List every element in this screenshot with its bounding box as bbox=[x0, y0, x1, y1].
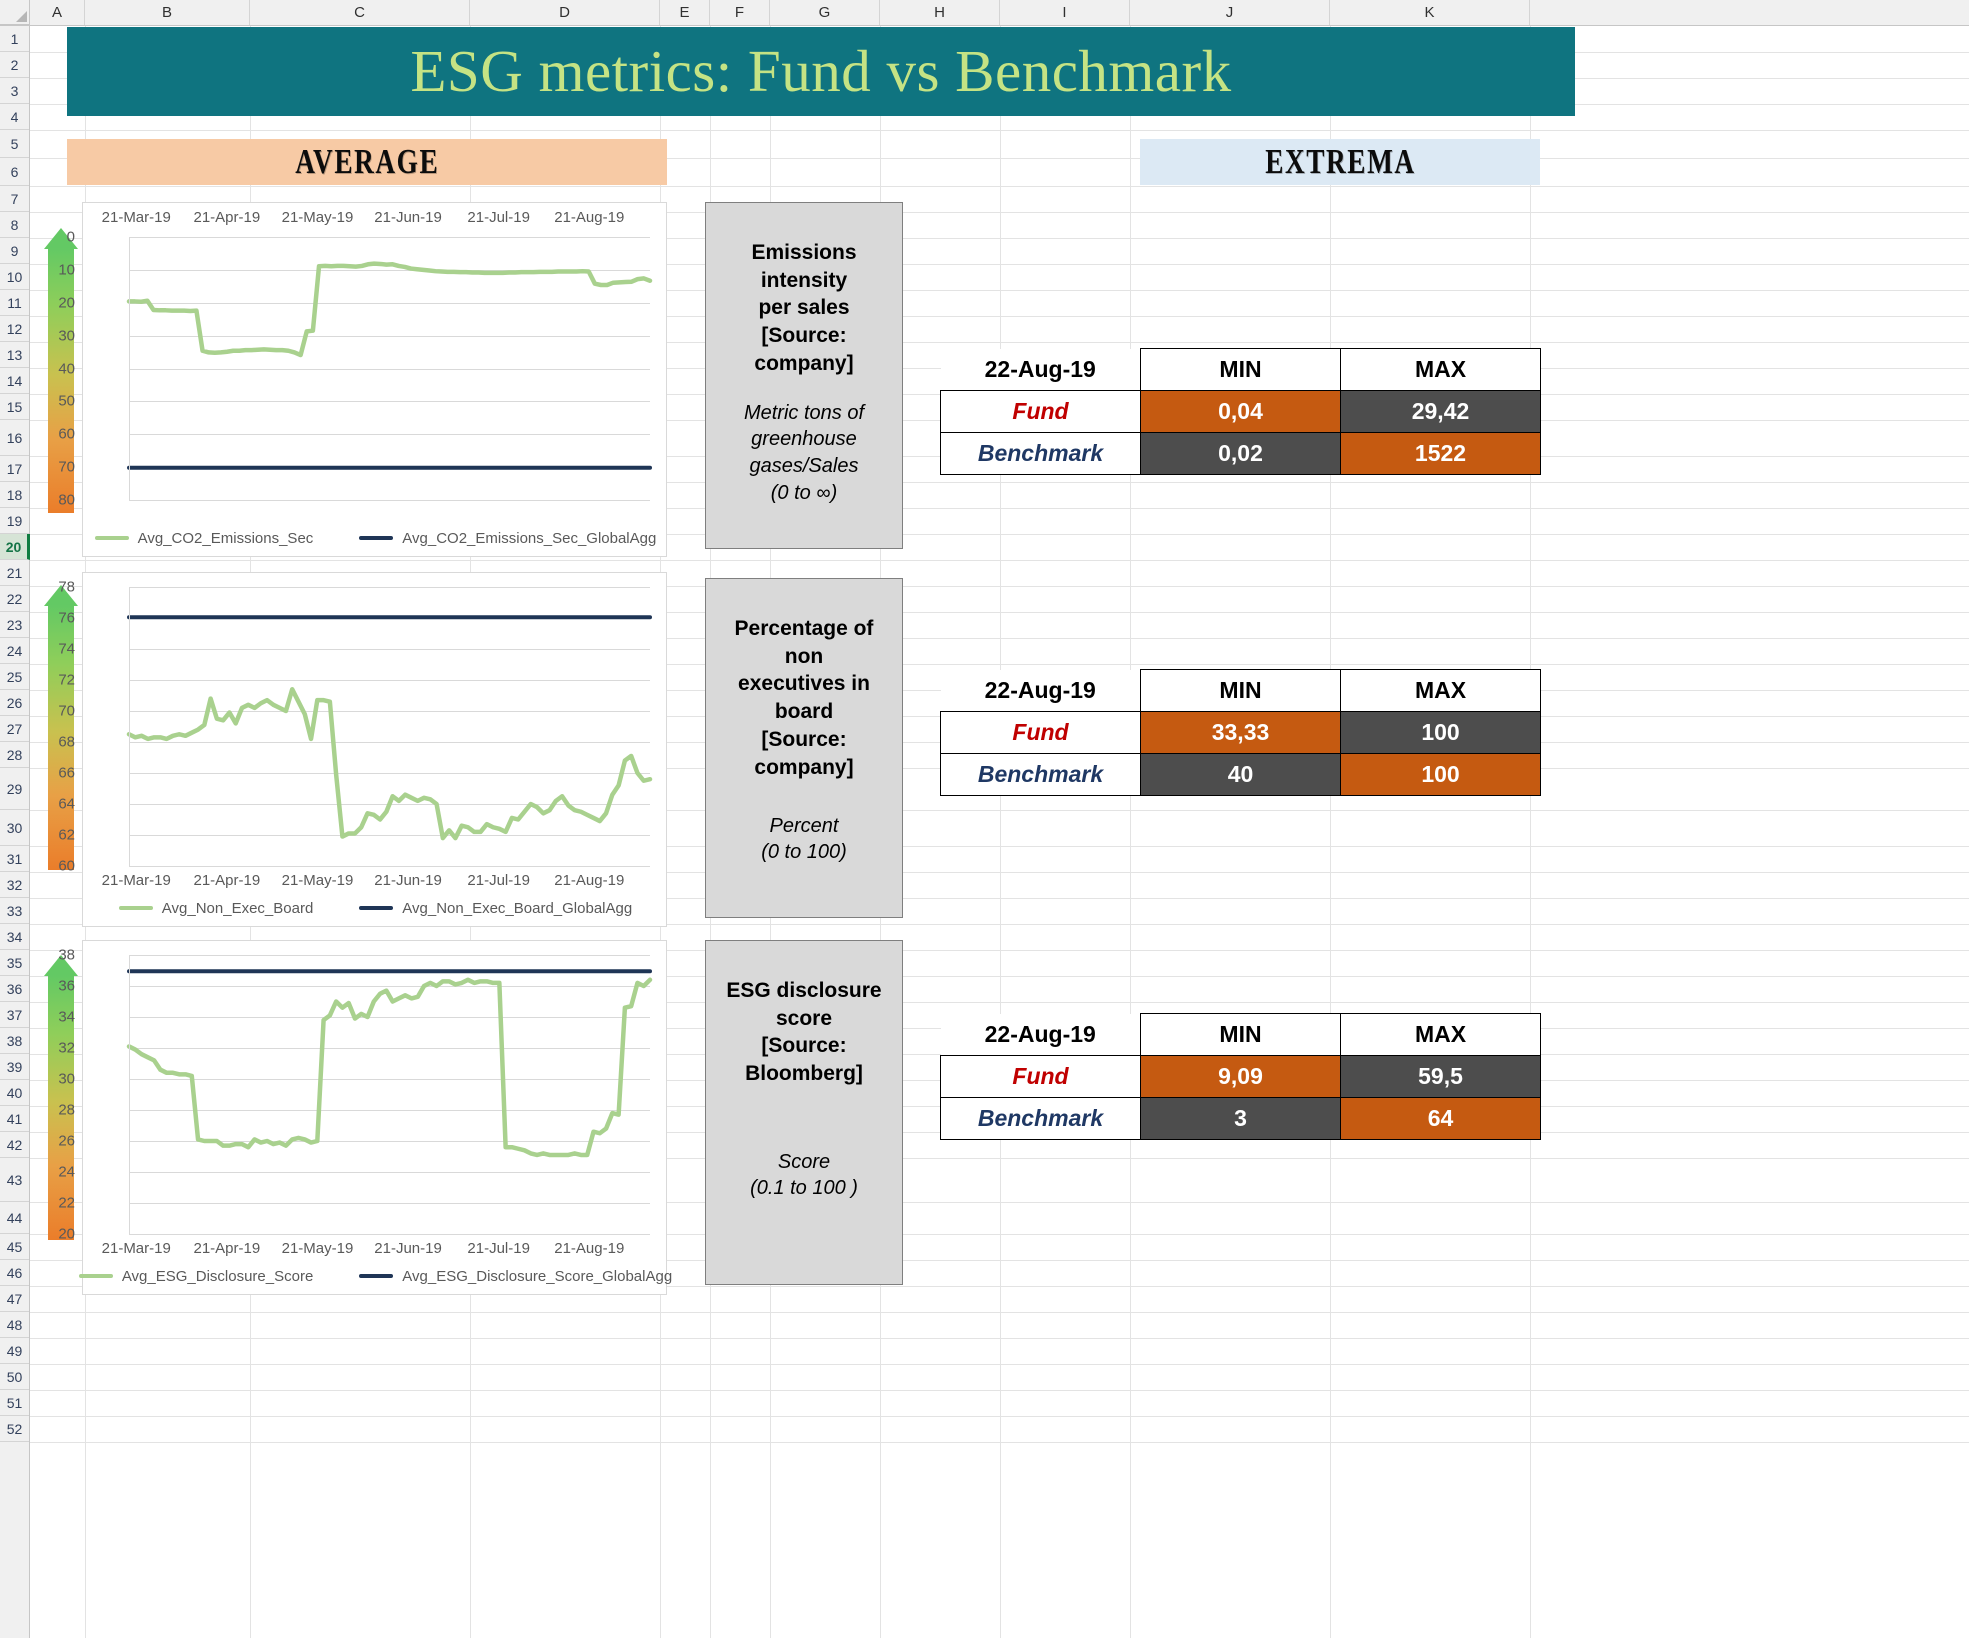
grid-line-horizontal bbox=[30, 1442, 1969, 1443]
column-header-K[interactable]: K bbox=[1330, 0, 1530, 25]
table-row-label-fund: Fund bbox=[941, 391, 1141, 433]
chart-x-tick-label: 21-May-19 bbox=[282, 209, 354, 226]
chart-x-tick-label: 21-Jun-19 bbox=[374, 1240, 442, 1257]
legend-label: Avg_ESG_Disclosure_Score bbox=[122, 1268, 313, 1285]
chart-y-tick-label: 76 bbox=[39, 610, 75, 627]
chart-line-Avg_Non_Exec_Board bbox=[129, 689, 650, 838]
legend-label: Avg_CO2_Emissions_Sec bbox=[138, 530, 314, 547]
chart-x-tick-label: 21-Apr-19 bbox=[193, 209, 260, 226]
row-header-12[interactable]: 12 bbox=[0, 316, 29, 342]
legend-color-swatch bbox=[119, 906, 153, 910]
section-header-average: AVERAGE bbox=[67, 139, 667, 185]
description-title-line: ESG disclosure score bbox=[718, 977, 890, 1032]
extrema-table-non-exec: 22-Aug-19MINMAXFund33,33100Benchmark4010… bbox=[940, 669, 1541, 796]
chart-y-tick-label: 20 bbox=[39, 1226, 75, 1243]
row-header-24[interactable]: 24 bbox=[0, 638, 29, 664]
grid-line-horizontal bbox=[30, 1338, 1969, 1339]
chart-y-tick-label: 34 bbox=[39, 1009, 75, 1026]
chart-legend: Avg_ESG_Disclosure_ScoreAvg_ESG_Disclosu… bbox=[83, 1264, 668, 1288]
table-cell-min: 33,33 bbox=[1141, 712, 1341, 754]
row-header-7[interactable]: 7 bbox=[0, 186, 29, 212]
legend-color-swatch bbox=[95, 536, 129, 540]
grid-line-horizontal bbox=[30, 560, 1969, 561]
row-header-23[interactable]: 23 bbox=[0, 612, 29, 638]
chart-plot-area bbox=[129, 237, 650, 500]
column-header-F[interactable]: F bbox=[710, 0, 770, 25]
grid-line-horizontal bbox=[30, 1364, 1969, 1365]
table-cell-max: 29,42 bbox=[1341, 391, 1541, 433]
table-cell-min: 40 bbox=[1141, 754, 1341, 796]
column-header-I[interactable]: I bbox=[1000, 0, 1130, 25]
chart-y-tick-label: 32 bbox=[39, 1040, 75, 1057]
row-header-46[interactable]: 46 bbox=[0, 1260, 29, 1286]
row-header-11[interactable]: 11 bbox=[0, 290, 29, 316]
chart-y-tick-label: 26 bbox=[39, 1133, 75, 1150]
chart-legend-item[interactable]: Avg_Non_Exec_Board_GlobalAgg bbox=[359, 900, 632, 917]
table-header-row: 22-Aug-19MINMAX bbox=[941, 349, 1541, 391]
table-cell-max: 100 bbox=[1341, 712, 1541, 754]
row-header-45[interactable]: 45 bbox=[0, 1234, 29, 1260]
row-header-1[interactable]: 1 bbox=[0, 26, 29, 52]
dashboard-title-banner: ESG metrics: Fund vs Benchmark bbox=[67, 27, 1575, 116]
chart-series-canvas bbox=[129, 955, 650, 1234]
chart-y-axis bbox=[129, 587, 130, 866]
chart-legend: Avg_Non_Exec_BoardAvg_Non_Exec_Board_Glo… bbox=[83, 896, 668, 920]
legend-label: Avg_ESG_Disclosure_Score_GlobalAgg bbox=[402, 1268, 672, 1285]
description-unit-line: (0 to ∞) bbox=[744, 480, 864, 507]
row-header-5[interactable]: 5 bbox=[0, 130, 29, 158]
description-unit-line: greenhouse bbox=[744, 426, 864, 453]
chart-legend-item[interactable]: Avg_ESG_Disclosure_Score_GlobalAgg bbox=[359, 1268, 672, 1285]
row-header-30[interactable]: 30 bbox=[0, 810, 29, 846]
row-header-27[interactable]: 27 bbox=[0, 716, 29, 742]
page-title: ESG metrics: Fund vs Benchmark bbox=[410, 37, 1231, 106]
row-header-37[interactable]: 37 bbox=[0, 1002, 29, 1028]
description-title: Emissions intensityper sales[Source: com… bbox=[718, 239, 890, 378]
table-row-label-benchmark: Benchmark bbox=[941, 1098, 1141, 1140]
row-header-22[interactable]: 22 bbox=[0, 586, 29, 612]
chart-x-tick-label: 21-Aug-19 bbox=[554, 209, 624, 226]
row-header-43[interactable]: 43 bbox=[0, 1158, 29, 1202]
chart-x-tick-label: 21-May-19 bbox=[282, 1240, 354, 1257]
table-cell-min: 0,04 bbox=[1141, 391, 1341, 433]
grid-line-vertical bbox=[1130, 26, 1131, 1638]
column-header-H[interactable]: H bbox=[880, 0, 1000, 25]
chart-series-canvas bbox=[129, 237, 650, 500]
chart-y-tick-label: 66 bbox=[39, 765, 75, 782]
table-row: Fund33,33100 bbox=[941, 712, 1541, 754]
legend-color-swatch bbox=[359, 1274, 393, 1278]
row-header-50[interactable]: 50 bbox=[0, 1364, 29, 1390]
table-row-label-fund: Fund bbox=[941, 1056, 1141, 1098]
description-unit-line: gases/Sales bbox=[744, 453, 864, 480]
description-title: Percentage of nonexecutives in board[Sou… bbox=[718, 615, 890, 781]
row-header-33[interactable]: 33 bbox=[0, 898, 29, 924]
row-header-41[interactable]: 41 bbox=[0, 1106, 29, 1132]
description-card-esg: ESG disclosure score[Source: Bloomberg]S… bbox=[705, 940, 903, 1285]
table-date-label: 22-Aug-19 bbox=[941, 349, 1141, 391]
chart-gridline bbox=[129, 1234, 650, 1235]
table-row-label-benchmark: Benchmark bbox=[941, 754, 1141, 796]
chart-legend-item[interactable]: Avg_CO2_Emissions_Sec_GlobalAgg bbox=[359, 530, 656, 547]
description-title-line: Emissions intensity bbox=[718, 239, 890, 294]
table-column-header-min: MIN bbox=[1141, 670, 1341, 712]
extrema-table: 22-Aug-19MINMAXFund0,0429,42Benchmark0,0… bbox=[940, 348, 1541, 475]
chart-y-tick-label: 40 bbox=[39, 360, 75, 377]
chart-y-tick-label: 78 bbox=[39, 579, 75, 596]
extrema-table: 22-Aug-19MINMAXFund9,0959,5Benchmark364 bbox=[940, 1013, 1541, 1140]
chart-x-tick-label: 21-May-19 bbox=[282, 872, 354, 889]
chart-x-tick-label: 21-Jul-19 bbox=[467, 872, 530, 889]
row-header-34[interactable]: 34 bbox=[0, 924, 29, 950]
description-card-non-exec: Percentage of nonexecutives in board[Sou… bbox=[705, 578, 903, 918]
chart-y-tick-label: 80 bbox=[39, 492, 75, 509]
row-header-52[interactable]: 52 bbox=[0, 1416, 29, 1442]
table-cell-min: 9,09 bbox=[1141, 1056, 1341, 1098]
table-cell-max: 59,5 bbox=[1341, 1056, 1541, 1098]
table-cell-max: 1522 bbox=[1341, 433, 1541, 475]
description-unit-line: Percent bbox=[761, 813, 847, 840]
chart-y-tick-label: 64 bbox=[39, 796, 75, 813]
chart-y-tick-label: 50 bbox=[39, 393, 75, 410]
legend-label: Avg_Non_Exec_Board bbox=[162, 900, 314, 917]
column-header-G[interactable]: G bbox=[770, 0, 880, 25]
chart-esg-disclosure[interactable]: 2022242628303234363821-Mar-1921-Apr-1921… bbox=[82, 940, 667, 1295]
table-row: Benchmark40100 bbox=[941, 754, 1541, 796]
description-title: ESG disclosure score[Source: Bloomberg] bbox=[718, 977, 890, 1088]
chart-legend-item[interactable]: Avg_ESG_Disclosure_Score bbox=[79, 1268, 313, 1285]
section-header-average-label: AVERAGE bbox=[295, 142, 439, 182]
legend-color-swatch bbox=[359, 906, 393, 910]
table-header-row: 22-Aug-19MINMAX bbox=[941, 1014, 1541, 1056]
chart-x-tick-label: 21-Jul-19 bbox=[467, 1240, 530, 1257]
chart-y-tick-label: 20 bbox=[39, 294, 75, 311]
chart-x-tick-label: 21-Aug-19 bbox=[554, 1240, 624, 1257]
row-header-51[interactable]: 51 bbox=[0, 1390, 29, 1416]
description-unit: Score(0.1 to 100 ) bbox=[750, 1149, 858, 1203]
grid-line-vertical bbox=[1530, 26, 1531, 1638]
chart-plot-area bbox=[129, 955, 650, 1234]
chart-x-tick-label: 21-Mar-19 bbox=[102, 1240, 171, 1257]
row-header-4[interactable]: 4 bbox=[0, 104, 29, 130]
grid-line-horizontal bbox=[30, 1312, 1969, 1313]
table-row: Benchmark0,021522 bbox=[941, 433, 1541, 475]
chart-y-tick-label: 22 bbox=[39, 1195, 75, 1212]
row-header-36[interactable]: 36 bbox=[0, 976, 29, 1002]
table-cell-max: 100 bbox=[1341, 754, 1541, 796]
column-header-A[interactable]: A bbox=[30, 0, 85, 25]
chart-y-axis bbox=[129, 955, 130, 1234]
legend-label: Avg_Non_Exec_Board_GlobalAgg bbox=[402, 900, 632, 917]
chart-x-tick-label: 21-Jul-19 bbox=[467, 209, 530, 226]
grid-line-horizontal bbox=[30, 186, 1969, 187]
chart-non-exec-board[interactable]: 6062646668707274767821-Mar-1921-Apr-1921… bbox=[82, 572, 667, 927]
row-header-44[interactable]: 44 bbox=[0, 1202, 29, 1234]
row-header-9[interactable]: 9 bbox=[0, 238, 29, 264]
table-date-label: 22-Aug-19 bbox=[941, 1014, 1141, 1056]
description-unit: Metric tons ofgreenhousegases/Sales(0 to… bbox=[744, 400, 864, 507]
row-header-26[interactable]: 26 bbox=[0, 690, 29, 716]
description-unit-line: (0.1 to 100 ) bbox=[750, 1175, 858, 1202]
row-header-42[interactable]: 42 bbox=[0, 1132, 29, 1158]
chart-y-tick-label: 36 bbox=[39, 978, 75, 995]
column-header-J[interactable]: J bbox=[1130, 0, 1330, 25]
description-title-line: [Source: company] bbox=[718, 726, 890, 781]
table-row: Fund9,0959,5 bbox=[941, 1056, 1541, 1098]
description-unit: Percent(0 to 100) bbox=[761, 813, 847, 867]
row-header-2[interactable]: 2 bbox=[0, 52, 29, 78]
description-title-line: per sales bbox=[718, 294, 890, 322]
chart-y-tick-label: 24 bbox=[39, 1164, 75, 1181]
chart-y-tick-label: 62 bbox=[39, 827, 75, 844]
description-title-line: [Source: company] bbox=[718, 322, 890, 377]
chart-gridline bbox=[129, 500, 650, 501]
chart-x-tick-label: 21-Aug-19 bbox=[554, 872, 624, 889]
section-header-extrema-label: EXTREMA bbox=[1265, 142, 1415, 182]
description-unit-line: (0 to 100) bbox=[761, 839, 847, 866]
table-header-row: 22-Aug-19MINMAX bbox=[941, 670, 1541, 712]
description-unit-line: Score bbox=[750, 1149, 858, 1176]
row-header-47[interactable]: 47 bbox=[0, 1286, 29, 1312]
chart-line-Avg_CO2_Emissions_Sec bbox=[129, 264, 650, 355]
section-header-extrema: EXTREMA bbox=[1140, 139, 1540, 185]
chart-co2-emissions[interactable]: 0102030405060708021-Mar-1921-Apr-1921-Ma… bbox=[82, 202, 667, 557]
row-header-16[interactable]: 16 bbox=[0, 420, 29, 456]
row-header-38[interactable]: 38 bbox=[0, 1028, 29, 1054]
extrema-table-esg: 22-Aug-19MINMAXFund9,0959,5Benchmark364 bbox=[940, 1013, 1541, 1140]
extrema-table-emissions: 22-Aug-19MINMAXFund0,0429,42Benchmark0,0… bbox=[940, 348, 1541, 475]
row-header-15[interactable]: 15 bbox=[0, 394, 29, 420]
legend-label: Avg_CO2_Emissions_Sec_GlobalAgg bbox=[402, 530, 656, 547]
chart-gridline bbox=[129, 866, 650, 867]
chart-y-tick-label: 70 bbox=[39, 703, 75, 720]
chart-series-canvas bbox=[129, 587, 650, 866]
description-title-line: Percentage of non bbox=[718, 615, 890, 670]
chart-y-tick-label: 72 bbox=[39, 672, 75, 689]
description-title-line: [Source: Bloomberg] bbox=[718, 1032, 890, 1087]
chart-y-tick-label: 70 bbox=[39, 459, 75, 476]
row-header-6[interactable]: 6 bbox=[0, 158, 29, 186]
chart-y-tick-label: 30 bbox=[39, 327, 75, 344]
row-header-21[interactable]: 21 bbox=[0, 560, 29, 586]
select-all-corner[interactable] bbox=[0, 0, 30, 25]
table-column-header-min: MIN bbox=[1141, 1014, 1341, 1056]
column-header-B[interactable]: B bbox=[85, 0, 250, 25]
row-header-49[interactable]: 49 bbox=[0, 1338, 29, 1364]
chart-y-tick-label: 38 bbox=[39, 947, 75, 964]
row-header-20[interactable]: 20 bbox=[0, 534, 30, 560]
row-header-18[interactable]: 18 bbox=[0, 482, 29, 508]
chart-legend-item[interactable]: Avg_Non_Exec_Board bbox=[119, 900, 314, 917]
description-card-emissions: Emissions intensityper sales[Source: com… bbox=[705, 202, 903, 549]
legend-color-swatch bbox=[79, 1274, 113, 1278]
chart-x-tick-label: 21-Mar-19 bbox=[102, 209, 171, 226]
row-header-48[interactable]: 48 bbox=[0, 1312, 29, 1338]
table-row-label-fund: Fund bbox=[941, 712, 1141, 754]
row-header-17[interactable]: 17 bbox=[0, 456, 29, 482]
grid-line-horizontal bbox=[30, 1390, 1969, 1391]
row-header-31[interactable]: 31 bbox=[0, 846, 29, 872]
chart-y-tick-label: 60 bbox=[39, 426, 75, 443]
extrema-table: 22-Aug-19MINMAXFund33,33100Benchmark4010… bbox=[940, 669, 1541, 796]
table-cell-min: 3 bbox=[1141, 1098, 1341, 1140]
legend-color-swatch bbox=[359, 536, 393, 540]
table-date-label: 22-Aug-19 bbox=[941, 670, 1141, 712]
grid-line-horizontal bbox=[30, 1416, 1969, 1417]
chart-x-tick-label: 21-Apr-19 bbox=[193, 1240, 260, 1257]
description-unit-line: Metric tons of bbox=[744, 400, 864, 427]
row-header-19[interactable]: 19 bbox=[0, 508, 29, 534]
column-header-E[interactable]: E bbox=[660, 0, 710, 25]
row-header-28[interactable]: 28 bbox=[0, 742, 29, 768]
table-column-header-max: MAX bbox=[1341, 670, 1541, 712]
chart-y-tick-label: 30 bbox=[39, 1071, 75, 1088]
table-column-header-max: MAX bbox=[1341, 1014, 1541, 1056]
row-header-14[interactable]: 14 bbox=[0, 368, 29, 394]
row-header-25[interactable]: 25 bbox=[0, 664, 29, 690]
table-row-label-benchmark: Benchmark bbox=[941, 433, 1141, 475]
chart-y-tick-label: 0 bbox=[39, 229, 75, 246]
chart-x-tick-label: 21-Mar-19 bbox=[102, 872, 171, 889]
chart-y-tick-label: 74 bbox=[39, 641, 75, 658]
row-header-13[interactable]: 13 bbox=[0, 342, 29, 368]
row-header-3[interactable]: 3 bbox=[0, 78, 29, 104]
table-column-header-min: MIN bbox=[1141, 349, 1341, 391]
row-header-32[interactable]: 32 bbox=[0, 872, 29, 898]
chart-y-tick-label: 28 bbox=[39, 1102, 75, 1119]
row-header-29[interactable]: 29 bbox=[0, 768, 29, 810]
chart-plot-area bbox=[129, 587, 650, 866]
chart-legend-item[interactable]: Avg_CO2_Emissions_Sec bbox=[95, 530, 314, 547]
chart-y-axis bbox=[129, 237, 130, 500]
row-header-10[interactable]: 10 bbox=[0, 264, 29, 290]
grid-line-horizontal bbox=[30, 130, 1969, 131]
table-cell-min: 0,02 bbox=[1141, 433, 1341, 475]
table-column-header-max: MAX bbox=[1341, 349, 1541, 391]
row-header-39[interactable]: 39 bbox=[0, 1054, 29, 1080]
row-header-40[interactable]: 40 bbox=[0, 1080, 29, 1106]
chart-y-tick-label: 60 bbox=[39, 858, 75, 875]
grid-line-vertical bbox=[1000, 26, 1001, 1638]
grid-line-vertical bbox=[1330, 26, 1331, 1638]
description-title-line: executives in board bbox=[718, 670, 890, 725]
column-header-C[interactable]: C bbox=[250, 0, 470, 25]
row-header-35[interactable]: 35 bbox=[0, 950, 29, 976]
row-header-8[interactable]: 8 bbox=[0, 212, 29, 238]
table-row: Benchmark364 bbox=[941, 1098, 1541, 1140]
chart-x-tick-label: 21-Apr-19 bbox=[193, 872, 260, 889]
table-cell-max: 64 bbox=[1341, 1098, 1541, 1140]
chart-legend: Avg_CO2_Emissions_SecAvg_CO2_Emissions_S… bbox=[83, 526, 668, 550]
chart-y-tick-label: 68 bbox=[39, 734, 75, 751]
chart-x-tick-label: 21-Jun-19 bbox=[374, 209, 442, 226]
column-header-D[interactable]: D bbox=[470, 0, 660, 25]
chart-x-tick-label: 21-Jun-19 bbox=[374, 872, 442, 889]
chart-y-tick-label: 10 bbox=[39, 261, 75, 278]
chart-line-Avg_ESG_Disclosure_Score bbox=[129, 980, 650, 1155]
table-row: Fund0,0429,42 bbox=[941, 391, 1541, 433]
